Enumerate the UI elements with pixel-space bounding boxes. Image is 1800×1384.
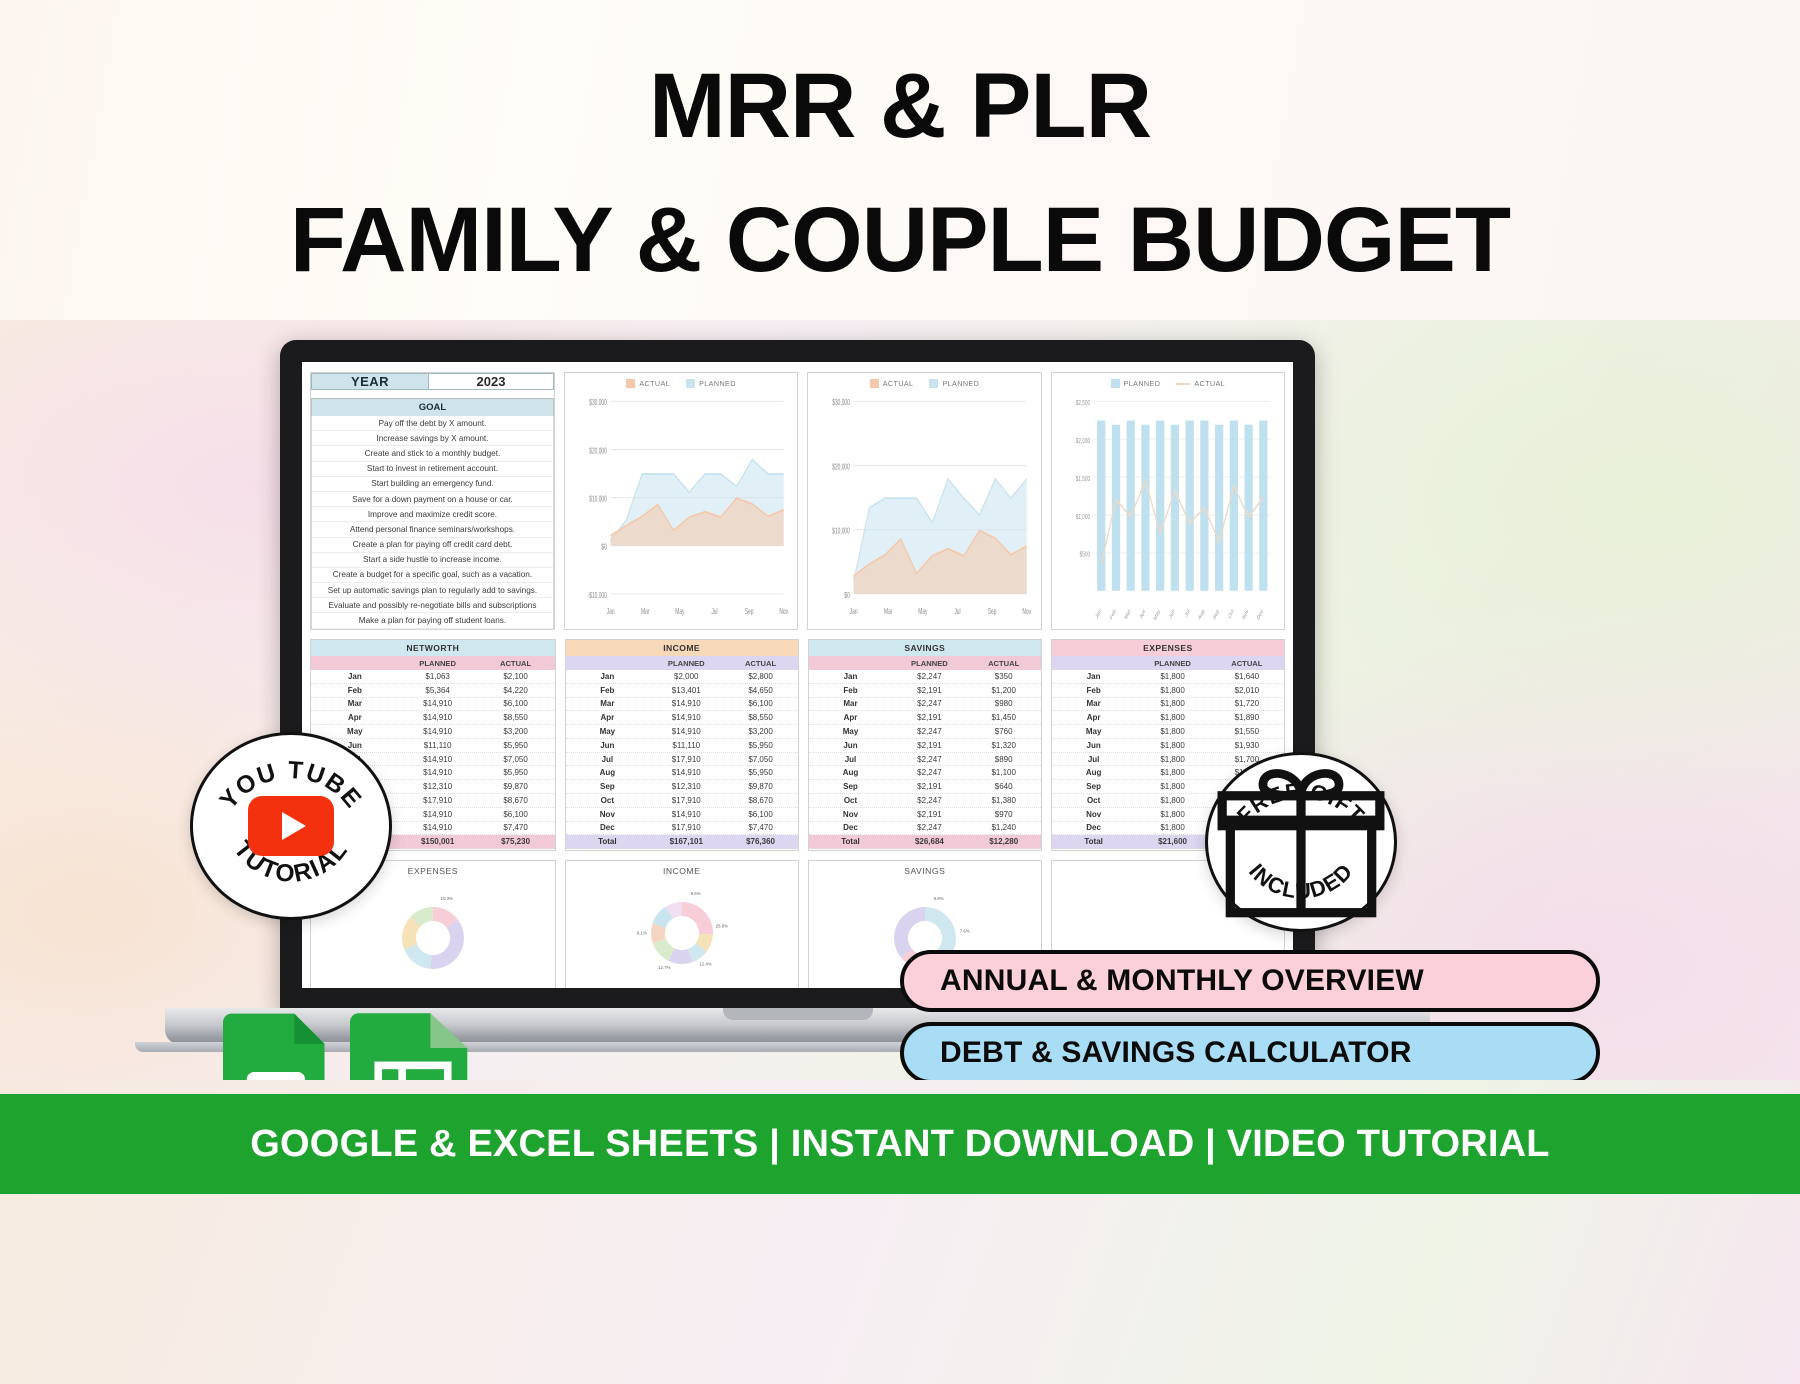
donut-chart: 9.6%25.8%12.4%12.7%9.1% <box>634 885 730 981</box>
cell-month: Jan <box>809 670 893 683</box>
cell-planned: $1,800 <box>1135 766 1209 779</box>
cell-actual: $350 <box>967 670 1041 683</box>
table-row: Mar$1,800$1,720 <box>1052 698 1284 712</box>
table-column-headers: PLANNEDACTUAL <box>809 656 1041 670</box>
table-row: Feb$2,191$1,200 <box>809 684 1041 698</box>
svg-text:$30,000: $30,000 <box>833 399 851 407</box>
cell-month: Feb <box>566 684 650 697</box>
cell-planned: $2,191 <box>892 780 966 793</box>
cell-planned: $150,001 <box>399 835 477 848</box>
cell-actual: $3,200 <box>477 725 555 738</box>
svg-text:12.4%: 12.4% <box>699 962 711 967</box>
goal-item: Save for a down payment on a house or ca… <box>312 492 553 507</box>
cell-month: Oct <box>1052 794 1136 807</box>
cell-month: Dec <box>809 822 893 835</box>
cell-planned: $1,800 <box>1135 808 1209 821</box>
page-title-line2: FAMILY & COUPLE BUDGET <box>290 194 1510 286</box>
year-value[interactable]: 2023 <box>429 373 554 390</box>
goal-header: GOAL <box>311 398 554 416</box>
laptop-screen: YEAR 2023 GOAL Pay off the debt by X amo… <box>280 340 1315 1012</box>
income-area-chart: $0$10,000$20,000$30,000JanMarMayJulSepNo… <box>816 392 1032 625</box>
donut-title: INCOME <box>663 866 700 876</box>
table-row: Jan$1,800$1,640 <box>1052 670 1284 684</box>
svg-text:$0: $0 <box>845 592 851 600</box>
networth-chart-panel: ACTUAL PLANNED -$10,000$0$10,000$20,000$… <box>564 372 798 630</box>
cell-planned: $1,800 <box>1135 725 1209 738</box>
table-row: Apr$14,910$8,550 <box>311 711 555 725</box>
legend-actual: ACTUAL <box>883 379 914 388</box>
cell-month: Aug <box>809 766 893 779</box>
goal-item: Pay off the debt by X amount. <box>312 416 553 431</box>
cell-actual: $76,360 <box>723 835 797 848</box>
cell-month: Apr <box>566 711 650 724</box>
cell-planned: $1,800 <box>1135 698 1209 711</box>
cell-actual: $7,050 <box>477 753 555 766</box>
table-row: Jun$1,800$1,930 <box>1052 739 1284 753</box>
cell-actual: $3,200 <box>723 725 797 738</box>
laptop-mockup: YEAR 2023 GOAL Pay off the debt by X amo… <box>275 340 1320 1040</box>
table-row: Jan$2,247$350 <box>809 670 1041 684</box>
cell-actual: $7,050 <box>723 753 797 766</box>
svg-text:Mar: Mar <box>884 608 893 616</box>
cell-planned: $14,910 <box>399 711 477 724</box>
goal-item: Set up automatic savings plan to regular… <box>312 583 553 598</box>
svg-text:Jan: Jan <box>1095 608 1102 621</box>
cell-month: Sep <box>809 780 893 793</box>
savings-chart-legend: PLANNED ACTUAL <box>1060 379 1276 392</box>
cell-actual: $1,380 <box>967 794 1041 807</box>
svg-text:9.6%: 9.6% <box>690 891 700 896</box>
networth-area-chart: -$10,000$0$10,000$20,000$30,000JanMarMay… <box>573 392 789 625</box>
table-row: Aug$14,910$5,950 <box>566 766 798 780</box>
legend-actual: ACTUAL <box>639 379 670 388</box>
savings-bar-chart: $500$1,000$1,500$2,000$2,500JanFebMarApr… <box>1060 392 1276 625</box>
svg-text:Mar: Mar <box>641 608 650 616</box>
cell-actual: $7,470 <box>723 822 797 835</box>
cell-actual: $970 <box>967 808 1041 821</box>
goal-item: Evaluate and possibly re-negotiate bills… <box>312 598 553 613</box>
table-row: Apr$14,910$8,550 <box>566 711 798 725</box>
cell-planned: $2,247 <box>892 670 966 683</box>
table-row: Dec$17,910$7,470 <box>566 822 798 836</box>
cell-actual: $75,230 <box>477 835 555 848</box>
col-planned: PLANNED <box>1135 656 1209 670</box>
spreadsheet-dashboard: YEAR 2023 GOAL Pay off the debt by X amo… <box>302 362 1293 988</box>
cell-month: Jul <box>809 753 893 766</box>
cell-month: Apr <box>809 711 893 724</box>
svg-text:12.7%: 12.7% <box>658 965 670 970</box>
cell-actual: $760 <box>967 725 1041 738</box>
cell-actual: $1,930 <box>1210 739 1284 752</box>
col-planned: PLANNED <box>649 656 723 670</box>
table-row: Feb$1,800$2,010 <box>1052 684 1284 698</box>
cell-actual: $6,100 <box>477 808 555 821</box>
cell-planned: $1,800 <box>1135 780 1209 793</box>
table-row: Apr$1,800$1,890 <box>1052 711 1284 725</box>
table-row: Oct$17,910$8,670 <box>566 794 798 808</box>
cell-planned: $1,800 <box>1135 684 1209 697</box>
savings-chart-panel: PLANNED ACTUAL $500$1,000$1,500$2,000$2,… <box>1051 372 1285 630</box>
cell-planned: $17,910 <box>399 794 477 807</box>
cell-planned: $17,910 <box>649 753 723 766</box>
footer-banner-text: GOOGLE & EXCEL SHEETS | INSTANT DOWNLOAD… <box>250 1123 1549 1166</box>
feature-annual-monthly-overview[interactable]: ANNUAL & MONTHLY OVERVIEW <box>900 950 1600 1012</box>
cell-month: Mar <box>1052 698 1136 711</box>
excel-file-icon: X <box>223 1013 331 1080</box>
cell-planned: $1,800 <box>1135 670 1209 683</box>
table-row: Feb$5,364$4,220 <box>311 684 555 698</box>
col-month <box>566 656 650 670</box>
table-row: Dec$2,247$1,240 <box>809 822 1041 836</box>
page-title-line1: MRR & PLR <box>649 60 1151 152</box>
hero-section: YEAR 2023 GOAL Pay off the debt by X amo… <box>0 320 1800 1080</box>
svg-text:9.8%: 9.8% <box>934 896 944 901</box>
google-sheets-icon <box>350 1013 476 1080</box>
cell-planned: $17,910 <box>649 794 723 807</box>
cell-actual: $8,550 <box>723 711 797 724</box>
cell-month: Jun <box>809 739 893 752</box>
svg-text:Sep: Sep <box>745 608 754 616</box>
footer-banner: GOOGLE & EXCEL SHEETS | INSTANT DOWNLOAD… <box>0 1094 1800 1194</box>
cell-actual: $8,670 <box>477 794 555 807</box>
svg-text:Jul: Jul <box>955 608 962 616</box>
svg-text:$500: $500 <box>1079 551 1090 559</box>
table-column-headers: PLANNEDACTUAL <box>1052 656 1284 670</box>
cell-actual: $9,870 <box>477 780 555 793</box>
table-row: Aug$2,247$1,100 <box>809 766 1041 780</box>
cell-month: Apr <box>1052 711 1136 724</box>
cell-planned: $11,110 <box>399 739 477 752</box>
goal-item: Attend personal finance seminars/worksho… <box>312 522 553 537</box>
cell-planned: $14,910 <box>649 698 723 711</box>
cell-actual: $4,650 <box>723 684 797 697</box>
col-actual: ACTUAL <box>967 656 1041 670</box>
cell-month: Oct <box>809 794 893 807</box>
table-row: May$2,247$760 <box>809 725 1041 739</box>
cell-actual: $1,550 <box>1210 725 1284 738</box>
svg-text:$0: $0 <box>601 544 607 552</box>
cell-planned: $2,247 <box>892 766 966 779</box>
goal-item: Improve and maximize credit score. <box>312 507 553 522</box>
col-actual: ACTUAL <box>477 656 555 670</box>
goal-list: Pay off the debt by X amount.Increase sa… <box>311 416 554 630</box>
cell-actual: $1,320 <box>967 739 1041 752</box>
svg-text:Apr: Apr <box>1139 608 1146 621</box>
cell-planned: $14,910 <box>649 711 723 724</box>
cell-planned: $2,247 <box>892 698 966 711</box>
cell-month: Total <box>1052 835 1136 848</box>
table-column-headers: PLANNEDACTUAL <box>311 656 555 670</box>
table-row: Sep$12,310$9,870 <box>566 780 798 794</box>
svg-text:Jul: Jul <box>711 608 718 616</box>
cell-month: Oct <box>566 794 650 807</box>
svg-text:$20,000: $20,000 <box>589 447 607 455</box>
cell-actual: $5,950 <box>477 766 555 779</box>
cell-actual: $5,950 <box>723 766 797 779</box>
donut-chart: 10.3% <box>385 890 481 986</box>
cell-month: Aug <box>566 766 650 779</box>
income-chart-panel: ACTUAL PLANNED $0$10,000$20,000$30,000Ja… <box>807 372 1041 630</box>
networth-chart-legend: ACTUAL PLANNED <box>573 379 789 392</box>
cell-actual: $1,720 <box>1210 698 1284 711</box>
cell-planned: $2,247 <box>892 794 966 807</box>
cell-planned: $2,191 <box>892 808 966 821</box>
svg-text:May: May <box>919 608 929 616</box>
col-planned: PLANNED <box>399 656 477 670</box>
legend-actual: ACTUAL <box>1194 379 1225 388</box>
summary-table: SAVINGSPLANNEDACTUALJan$2,247$350Feb$2,1… <box>808 639 1042 851</box>
table-row: Jan$1,063$2,100 <box>311 670 555 684</box>
svg-text:Dec: Dec <box>1256 608 1264 622</box>
cell-actual: $5,950 <box>477 739 555 752</box>
goal-item: Create a plan for paying off credit card… <box>312 538 553 553</box>
table-title: EXPENSES <box>1052 640 1284 656</box>
cell-planned: $14,910 <box>399 698 477 711</box>
cell-planned: $14,910 <box>649 808 723 821</box>
col-actual: ACTUAL <box>1210 656 1284 670</box>
cell-planned: $14,910 <box>399 766 477 779</box>
col-actual: ACTUAL <box>723 656 797 670</box>
svg-text:$2,500: $2,500 <box>1075 399 1090 407</box>
cell-planned: $13,401 <box>649 684 723 697</box>
cell-month: Feb <box>809 684 893 697</box>
table-row: Mar$14,910$6,100 <box>566 698 798 712</box>
youtube-tutorial-badge[interactable]: YOU TUBE TUTORIAL <box>190 732 392 920</box>
cell-month: Jan <box>566 670 650 683</box>
summary-table: INCOMEPLANNEDACTUALJan$2,000$2,800Feb$13… <box>565 639 799 851</box>
svg-text:7.6%: 7.6% <box>960 928 970 933</box>
cell-planned: $5,364 <box>399 684 477 697</box>
cell-month: Jan <box>1052 670 1136 683</box>
svg-text:Oct: Oct <box>1227 608 1235 621</box>
table-row: Total$26,684$12,280 <box>809 835 1041 849</box>
svg-text:Sep: Sep <box>1212 608 1220 622</box>
cell-planned: $14,910 <box>399 822 477 835</box>
cell-month: Feb <box>311 684 399 697</box>
svg-text:25.8%: 25.8% <box>715 923 727 928</box>
cell-planned: $1,800 <box>1135 739 1209 752</box>
svg-text:$20,000: $20,000 <box>833 463 851 471</box>
feature-label: ANNUAL & MONTHLY OVERVIEW <box>940 964 1424 998</box>
cell-planned: $167,101 <box>649 835 723 848</box>
table-row: Jun$2,191$1,320 <box>809 739 1041 753</box>
svg-text:Aug: Aug <box>1197 608 1205 622</box>
cell-planned: $12,310 <box>649 780 723 793</box>
cell-actual: $6,100 <box>477 698 555 711</box>
cell-month: Sep <box>566 780 650 793</box>
cell-planned: $14,910 <box>399 753 477 766</box>
cell-actual: $2,010 <box>1210 684 1284 697</box>
svg-text:Jul: Jul <box>1184 608 1191 619</box>
svg-text:Jan: Jan <box>850 608 858 616</box>
svg-text:Mar: Mar <box>1124 608 1132 622</box>
table-row: Mar$14,910$6,100 <box>311 698 555 712</box>
cell-planned: $11,110 <box>649 739 723 752</box>
cell-planned: $26,684 <box>892 835 966 848</box>
table-row: Jan$2,000$2,800 <box>566 670 798 684</box>
gift-box-icon <box>1208 755 1394 929</box>
goal-item: Create and stick to a monthly budget. <box>312 446 553 461</box>
cell-month: Jan <box>311 670 399 683</box>
cell-month: Mar <box>809 698 893 711</box>
cell-planned: $14,910 <box>399 808 477 821</box>
table-row: Jul$17,910$7,050 <box>566 753 798 767</box>
col-month <box>809 656 893 670</box>
table-title: INCOME <box>566 640 798 656</box>
cell-actual: $6,100 <box>723 808 797 821</box>
cell-planned: $12,310 <box>399 780 477 793</box>
cell-month: Mar <box>311 698 399 711</box>
cell-month: Aug <box>1052 766 1136 779</box>
footer-gradient-strip <box>0 1186 1800 1384</box>
table-row: Total$167,101$76,360 <box>566 835 798 849</box>
cell-month: Nov <box>566 808 650 821</box>
goal-item: Start to invest in retirement account. <box>312 462 553 477</box>
cell-actual: $5,950 <box>723 739 797 752</box>
svg-text:-$10,000: -$10,000 <box>588 592 607 600</box>
cell-actual: $9,870 <box>723 780 797 793</box>
cell-planned: $1,800 <box>1135 753 1209 766</box>
feature-label: DEBT & SAVINGS CALCULATOR <box>940 1036 1412 1070</box>
table-column-headers: PLANNEDACTUAL <box>566 656 798 670</box>
table-title: NETWORTH <box>311 640 555 656</box>
goal-item: Start building an emergency fund. <box>312 477 553 492</box>
svg-text:May: May <box>675 608 685 616</box>
cell-planned: $1,800 <box>1135 794 1209 807</box>
donut-title: SAVINGS <box>904 866 945 876</box>
svg-text:$30,000: $30,000 <box>589 399 607 407</box>
goal-panel: YEAR 2023 GOAL Pay off the debt by X amo… <box>310 372 555 630</box>
svg-text:$10,000: $10,000 <box>833 528 851 536</box>
cell-planned: $2,191 <box>892 739 966 752</box>
goal-item: Increase savings by X amount. <box>312 431 553 446</box>
cell-month: Jul <box>1052 753 1136 766</box>
cell-month: Total <box>809 835 893 848</box>
cell-month: Feb <box>1052 684 1136 697</box>
cell-month: Total <box>566 835 650 848</box>
cell-month: Nov <box>809 808 893 821</box>
col-month <box>311 656 399 670</box>
cell-month: Jul <box>566 753 650 766</box>
col-planned: PLANNED <box>892 656 966 670</box>
cell-planned: $2,191 <box>892 684 966 697</box>
cell-month: Jun <box>1052 739 1136 752</box>
table-row: Nov$2,191$970 <box>809 808 1041 822</box>
cell-month: Dec <box>566 822 650 835</box>
svg-text:$2,000: $2,000 <box>1075 437 1090 445</box>
svg-text:$10,000: $10,000 <box>589 495 607 503</box>
cell-actual: $1,450 <box>967 711 1041 724</box>
goal-item: Start a side hustle to increase income. <box>312 553 553 568</box>
svg-text:X: X <box>261 1073 291 1080</box>
cell-actual: $980 <box>967 698 1041 711</box>
cell-actual: $2,100 <box>477 670 555 683</box>
svg-text:Sep: Sep <box>988 608 997 616</box>
cell-planned: $17,910 <box>649 822 723 835</box>
cell-month: Apr <box>311 711 399 724</box>
svg-text:9.1%: 9.1% <box>636 930 646 935</box>
cell-actual: $640 <box>967 780 1041 793</box>
feature-debt-savings-calculator[interactable]: DEBT & SAVINGS CALCULATOR <box>900 1022 1600 1080</box>
table-row: Nov$14,910$6,100 <box>566 808 798 822</box>
cell-planned: $2,191 <box>892 711 966 724</box>
cell-planned: $1,800 <box>1135 822 1209 835</box>
cell-actual: $1,640 <box>1210 670 1284 683</box>
cell-actual: $4,220 <box>477 684 555 697</box>
table-title: SAVINGS <box>809 640 1041 656</box>
svg-text:Jan: Jan <box>607 608 615 616</box>
cell-actual: $6,100 <box>723 698 797 711</box>
table-row: Oct$2,247$1,380 <box>809 794 1041 808</box>
cell-month: May <box>809 725 893 738</box>
income-chart-legend: ACTUAL PLANNED <box>816 379 1032 392</box>
legend-planned: PLANNED <box>699 379 736 388</box>
cell-month: May <box>566 725 650 738</box>
table-row: Mar$2,247$980 <box>809 698 1041 712</box>
cell-planned: $1,063 <box>399 670 477 683</box>
cell-planned: $2,247 <box>892 753 966 766</box>
cell-month: May <box>1052 725 1136 738</box>
goal-item: Make a plan for paying off student loans… <box>312 613 553 628</box>
summary-tables-row: NETWORTHPLANNEDACTUALJan$1,063$2,100Feb$… <box>310 639 1285 851</box>
table-row: Apr$2,191$1,450 <box>809 711 1041 725</box>
cell-actual: $2,800 <box>723 670 797 683</box>
free-gift-badge[interactable]: FREE GIFT INCLUDED <box>1205 752 1397 932</box>
cell-planned: $2,000 <box>649 670 723 683</box>
donut-chart-panel: INCOME9.6%25.8%12.4%12.7%9.1%SalarySide … <box>565 860 799 988</box>
cell-month: Sep <box>1052 780 1136 793</box>
youtube-play-icon <box>248 796 334 856</box>
svg-text:May: May <box>1153 608 1161 623</box>
cell-actual: $7,470 <box>477 822 555 835</box>
svg-text:Nov: Nov <box>1023 608 1032 616</box>
cell-month: Mar <box>566 698 650 711</box>
svg-text:$1,500: $1,500 <box>1075 475 1090 483</box>
year-row: YEAR 2023 <box>311 373 554 390</box>
cell-actual: $12,280 <box>967 835 1041 848</box>
donut-title: EXPENSES <box>408 866 458 876</box>
year-label: YEAR <box>311 373 429 390</box>
svg-text:Nov: Nov <box>1242 608 1250 622</box>
cell-actual: $8,550 <box>477 711 555 724</box>
laptop-notch <box>723 1008 873 1020</box>
cell-month: Jun <box>566 739 650 752</box>
cell-actual: $890 <box>967 753 1041 766</box>
table-row: May$14,910$3,200 <box>566 725 798 739</box>
legend-planned: PLANNED <box>1124 379 1161 388</box>
cell-planned: $14,910 <box>649 766 723 779</box>
cell-actual: $1,890 <box>1210 711 1284 724</box>
table-row: Feb$13,401$4,650 <box>566 684 798 698</box>
svg-text:10.3%: 10.3% <box>440 896 452 901</box>
svg-text:Jun: Jun <box>1168 608 1175 621</box>
svg-text:Feb: Feb <box>1109 608 1117 622</box>
cell-planned: $2,247 <box>892 725 966 738</box>
cell-planned: $14,910 <box>399 725 477 738</box>
table-row: Jun$11,110$5,950 <box>566 739 798 753</box>
svg-text:Nov: Nov <box>779 608 788 616</box>
svg-text:$1,000: $1,000 <box>1075 513 1090 521</box>
legend-planned: PLANNED <box>942 379 979 388</box>
cell-actual: $1,100 <box>967 766 1041 779</box>
cell-planned: $21,600 <box>1135 835 1209 848</box>
cell-actual: $1,200 <box>967 684 1041 697</box>
table-row: Sep$2,191$640 <box>809 780 1041 794</box>
table-row: May$1,800$1,550 <box>1052 725 1284 739</box>
cell-month: Nov <box>1052 808 1136 821</box>
cell-planned: $1,800 <box>1135 711 1209 724</box>
cell-planned: $14,910 <box>649 725 723 738</box>
